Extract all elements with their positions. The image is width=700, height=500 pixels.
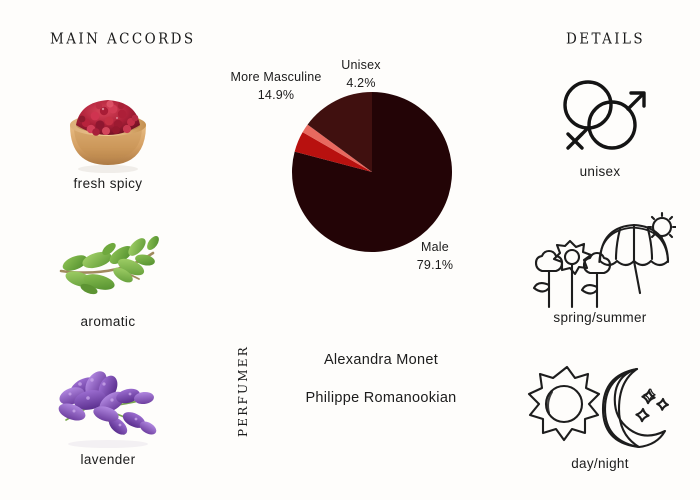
pie-label-more-masculine-name: More Masculine: [228, 68, 324, 86]
perfumer-name-2[interactable]: Philippe Romanookian: [266, 390, 496, 406]
main-accords-list: fresh spicy: [18, 82, 198, 496]
accord-item-aromatic[interactable]: aromatic: [18, 220, 198, 358]
perfumer-name-1[interactable]: Alexandra Monet: [266, 352, 496, 368]
perfume-profile-canvas: MAIN ACCORDS DETAILS: [0, 0, 700, 500]
gender-pie-chart[interactable]: [292, 92, 452, 252]
lavender-sprigs-image: [18, 358, 198, 456]
pie-label-more-masculine: More Masculine 14.9%: [228, 68, 324, 104]
detail-item-spring-summer[interactable]: spring/summer: [512, 208, 688, 354]
pie-label-unisex: Unisex 4.2%: [330, 56, 392, 92]
male-female-symbols-icon: [512, 62, 688, 172]
pie-label-unisex-name: Unisex: [330, 56, 392, 74]
bowl-of-red-berries-image: [18, 82, 198, 180]
perfumer-heading: PERFUMER: [236, 345, 250, 437]
accord-item-fresh-spicy[interactable]: fresh spicy: [18, 82, 198, 220]
details-list: unisex: [512, 62, 688, 500]
pie-label-male-name: Male: [404, 238, 466, 256]
accord-label-lavender: lavender: [18, 452, 198, 467]
detail-item-unisex[interactable]: unisex: [512, 62, 688, 208]
green-herb-sprig-image: [18, 220, 198, 318]
pie-label-more-masculine-value: 14.9%: [228, 86, 324, 104]
accord-item-lavender[interactable]: lavender: [18, 358, 198, 496]
perfumer-names-list: Alexandra Monet Philippe Romanookian: [266, 352, 496, 428]
sun-and-crescent-moon-icon: [512, 354, 688, 464]
pie-label-male: Male 79.1%: [404, 238, 466, 274]
detail-label-unisex: unisex: [512, 164, 688, 179]
details-heading: DETAILS: [566, 30, 645, 48]
accord-label-fresh-spicy: fresh spicy: [18, 176, 198, 191]
detail-item-day-night[interactable]: day/night: [512, 354, 688, 500]
flowers-and-beach-umbrella-icon: [512, 208, 688, 318]
accord-label-aromatic: aromatic: [18, 314, 198, 329]
main-accords-heading: MAIN ACCORDS: [50, 30, 196, 48]
pie-label-male-value: 79.1%: [404, 256, 466, 274]
pie-label-unisex-value: 4.2%: [330, 74, 392, 92]
detail-label-day-night: day/night: [512, 456, 688, 471]
